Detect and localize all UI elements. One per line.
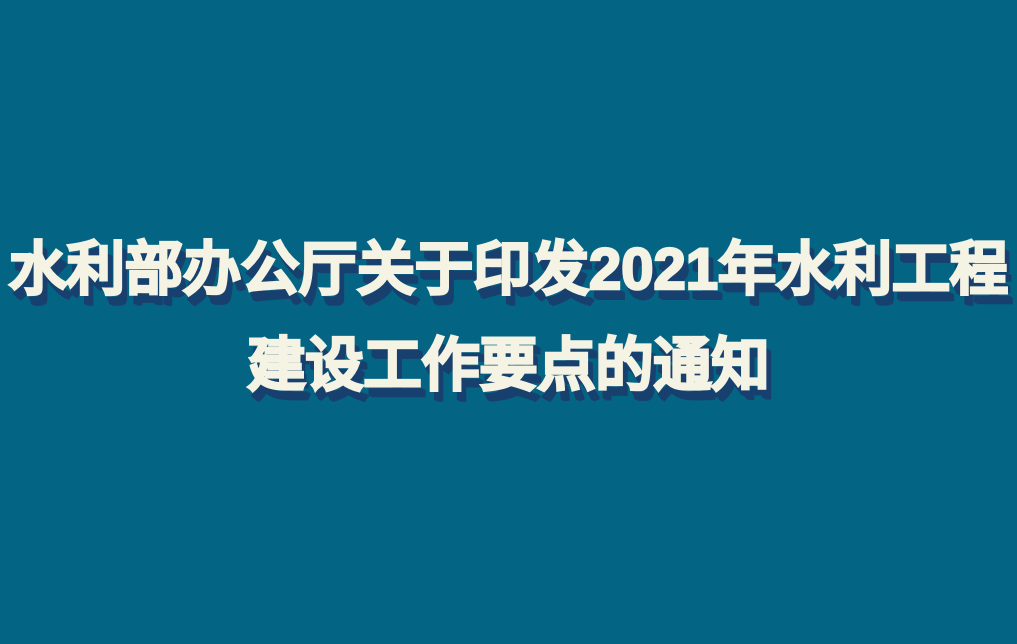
title-line-2: 建设工作要点的通知 xyxy=(0,318,1017,414)
page-title: 水利部办公厅关于印发2021年水利工程 建设工作要点的通知 xyxy=(0,222,1017,414)
title-line-1: 水利部办公厅关于印发2021年水利工程 xyxy=(0,222,1017,318)
title-banner: 水利部办公厅关于印发2021年水利工程 建设工作要点的通知 xyxy=(0,0,1017,644)
